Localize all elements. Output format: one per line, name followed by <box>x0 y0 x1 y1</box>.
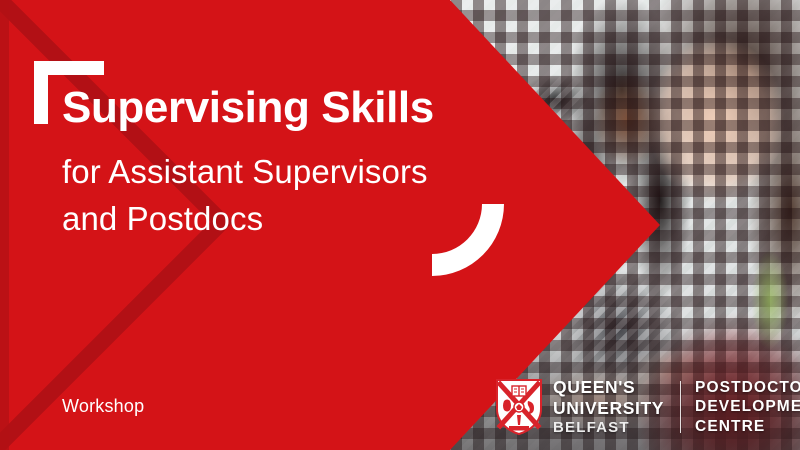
wordmark-line-belfast: BELFAST <box>553 420 664 435</box>
pdc-line-centre: CENTRE <box>695 419 800 435</box>
subtitle-line-1: for Assistant Supervisors <box>62 148 482 195</box>
page-subtitle: for Assistant Supervisors and Postdocs <box>62 148 482 242</box>
headline-block: Supervising Skills for Assistant Supervi… <box>62 82 482 242</box>
subtitle-line-2: and Postdocs <box>62 195 482 242</box>
event-type-label: Workshop <box>62 396 144 417</box>
page-title: Supervising Skills <box>62 82 482 134</box>
wordmark-line-queens: QUEEN'S <box>553 379 664 397</box>
pdc-line-postdoctoral: POSTDOCTORAL <box>695 380 800 396</box>
postdoctoral-development-centre-wordmark: POSTDOCTORAL DEVELOPMENT CENTRE <box>695 380 800 435</box>
workshop-promo-banner: Supervising Skills for Assistant Supervi… <box>0 0 800 450</box>
queens-university-shield-icon <box>496 379 542 435</box>
wordmark-line-university: UNIVERSITY <box>553 400 664 418</box>
pdc-line-development: DEVELOPMENT <box>695 399 800 415</box>
logo-lockup: QUEEN'S UNIVERSITY BELFAST POSTDOCTORAL … <box>496 376 800 438</box>
corner-bracket-vertical-bar <box>34 61 48 124</box>
queens-university-wordmark: QUEEN'S UNIVERSITY BELFAST <box>553 379 664 435</box>
logo-divider <box>680 381 681 433</box>
